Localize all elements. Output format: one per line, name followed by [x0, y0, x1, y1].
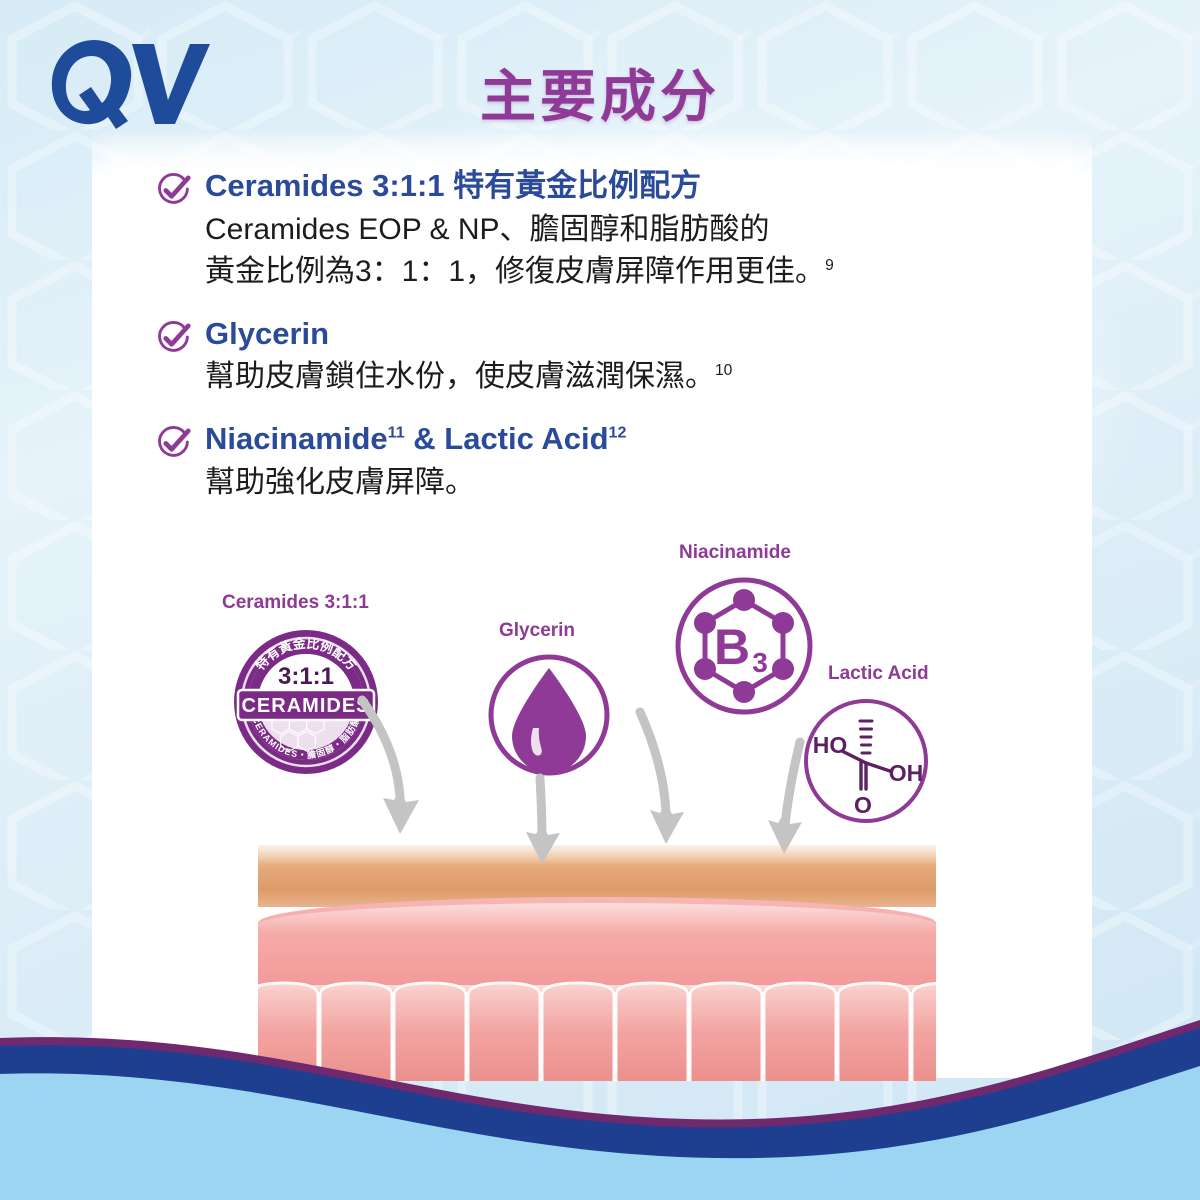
water-droplet-icon: [484, 650, 614, 780]
bullet-body-line1: 幫助強化皮膚屏障。: [205, 466, 475, 499]
bullet-body: Ceramides EOP & NP、膽固醇和脂肪酸的 黃金比例為3：1：1，修…: [205, 209, 995, 294]
lactic-acid-left-atom: HO: [813, 732, 848, 758]
bullet-body-line2-wrap: 黃金比例為3：1：1，修復皮膚屏障作用更佳。9: [205, 251, 995, 294]
bullet-heading: Ceramides 3:1:1 特有黃金比例配方: [205, 168, 995, 205]
bullet-heading: Niacinamide11 & Lactic Acid12: [205, 421, 995, 458]
lactic-acid-bottom-atom: O: [854, 792, 872, 818]
check-circle-icon: [155, 425, 191, 461]
bullet-body-ref: 9: [825, 257, 834, 274]
bullet-heading-en: Niacinamide: [205, 421, 388, 456]
bullet-heading-ref2: 12: [609, 424, 627, 442]
infographic-stage: 主要成分 Ceramides 3:1:1 特有黃金比例配方 Ceramides …: [0, 0, 1200, 1200]
bullet-body: 幫助皮膚鎖住水份，使皮膚滋潤保濕。10: [205, 356, 995, 399]
bullet-body-line1: 幫助皮膚鎖住水份，使皮膚滋潤保濕。: [205, 360, 715, 393]
b3-molecule-icon: B 3: [670, 572, 818, 720]
bullet-body-ref: 10: [715, 362, 732, 379]
check-circle-icon: [155, 320, 191, 356]
lactic-acid-right-atom: OH: [889, 760, 924, 786]
ceramides-ratio-text: 3:1:1: [278, 663, 334, 690]
b3-letter: B: [714, 619, 750, 675]
bullet-body-line2: 黃金比例為3：1：1，修復皮膚屏障作用更佳。: [205, 255, 825, 288]
bullet-ceramides: Ceramides 3:1:1 特有黃金比例配方 Ceramides EOP &…: [155, 168, 995, 294]
bullet-heading-cjk: 特有黃金比例配方: [453, 168, 701, 203]
bullet-heading: Glycerin: [205, 316, 995, 353]
lactic-acid-label: Lactic Acid: [828, 663, 929, 685]
ceramides-name-text: CERAMIDES: [241, 695, 370, 717]
bullet-heading-en: Ceramides 3:1:1: [205, 168, 445, 203]
bullet-heading-ref1: 11: [388, 424, 405, 442]
bullet-body-line1: Ceramides EOP & NP、膽固醇和脂肪酸的: [205, 209, 995, 252]
bullet-niacinamide-lactic-acid: Niacinamide11 & Lactic Acid12 幫助強化皮膚屏障。: [155, 421, 995, 504]
bullet-body: 幫助強化皮膚屏障。: [205, 462, 995, 505]
bullet-heading-mid: & Lactic Acid: [405, 421, 609, 456]
bottom-wave-decoration: [0, 1010, 1200, 1200]
ingredient-bullet-list: Ceramides 3:1:1 特有黃金比例配方 Ceramides EOP &…: [155, 168, 995, 526]
lactic-acid-molecule-icon: HO OH O: [798, 693, 934, 829]
bullet-heading-en: Glycerin: [205, 316, 329, 351]
page-title: 主要成分: [0, 52, 1200, 133]
niacinamide-label: Niacinamide: [679, 542, 791, 564]
glycerin-label: Glycerin: [499, 620, 575, 642]
check-circle-icon: [155, 172, 191, 208]
ceramides-badge-icon: 3:1:1 特有黃金比例配方 CERAMIDES・膽固醇・脂肪酸 CERAMID…: [226, 622, 386, 782]
bullet-glycerin: Glycerin 幫助皮膚鎖住水份，使皮膚滋潤保濕。10: [155, 316, 995, 399]
ceramides-badge-label: Ceramides 3:1:1: [222, 592, 369, 614]
b3-subscript: 3: [752, 647, 768, 678]
